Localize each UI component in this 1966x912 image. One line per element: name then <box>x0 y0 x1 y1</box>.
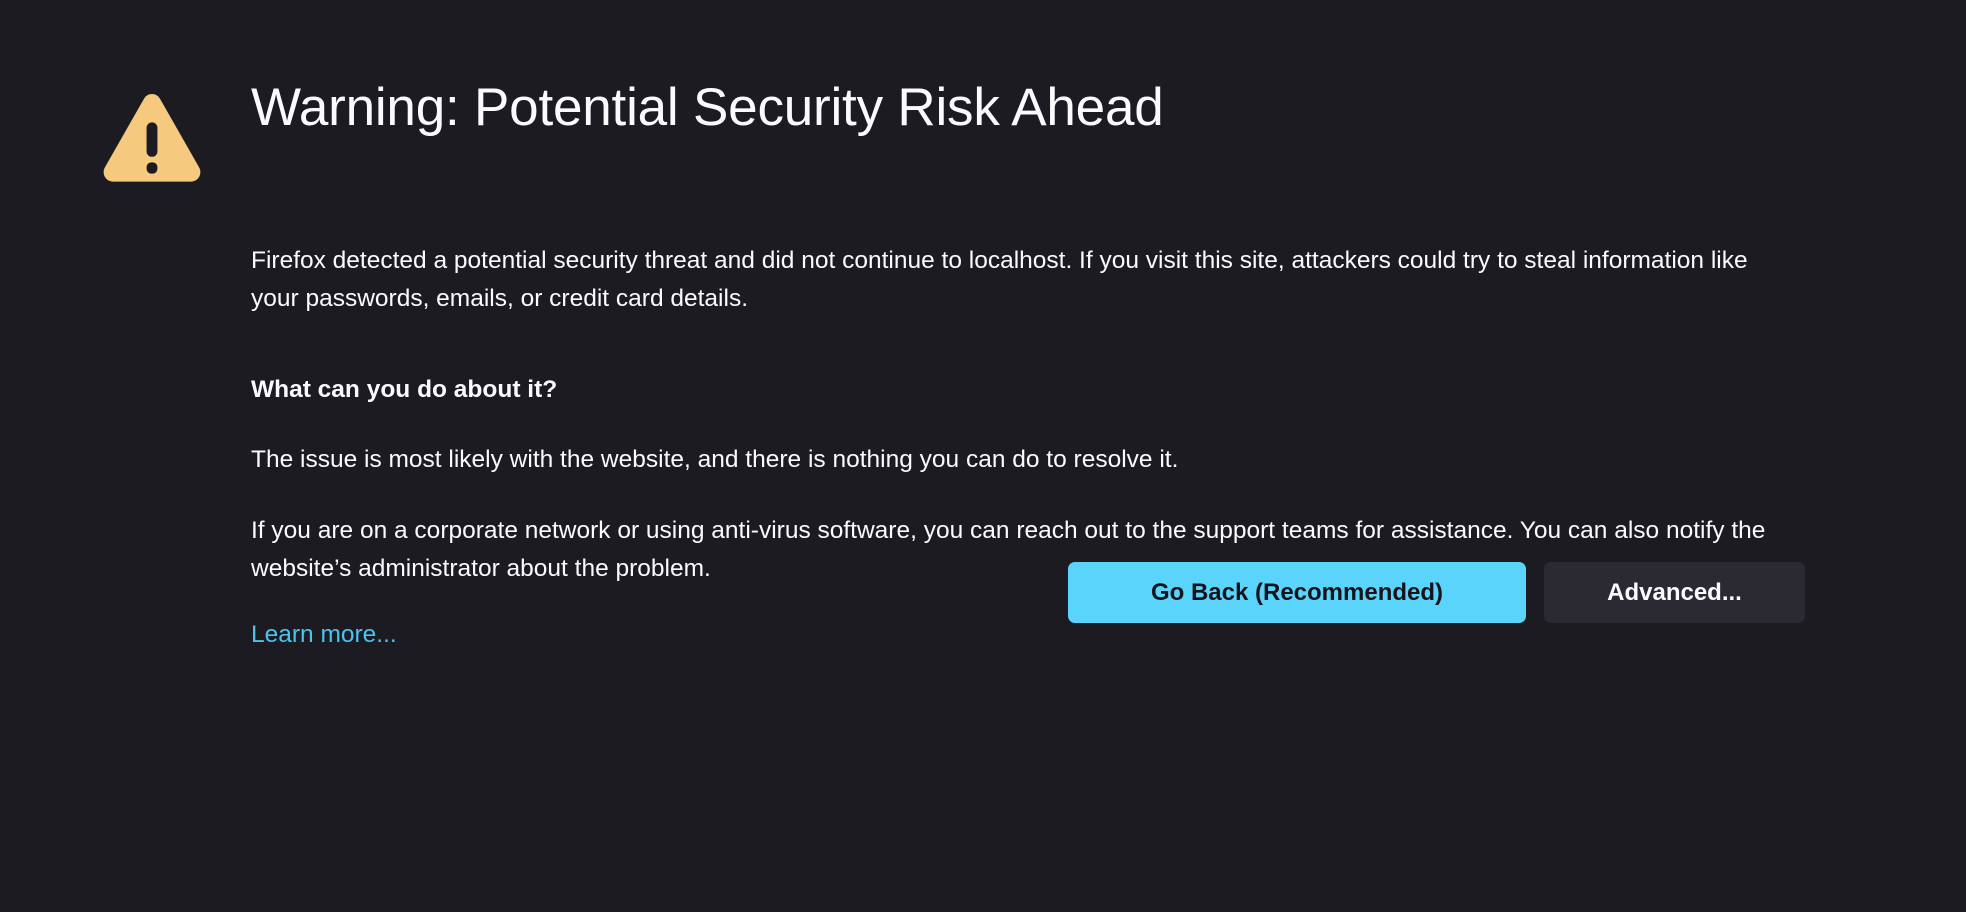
what-can-you-do-heading: What can you do about it? <box>251 374 1805 406</box>
page-title: Warning: Potential Security Risk Ahead <box>251 78 1164 137</box>
go-back-button[interactable]: Go Back (Recommended) <box>1068 562 1526 623</box>
intro-paragraph: Firefox detected a potential security th… <box>251 242 1796 318</box>
action-button-row: Go Back (Recommended) Advanced... <box>100 562 1805 623</box>
learn-more-link[interactable]: Learn more... <box>251 618 397 652</box>
advanced-button[interactable]: Advanced... <box>1544 562 1805 623</box>
error-page: Warning: Potential Security Risk Ahead F… <box>0 0 1966 912</box>
resolve-paragraph: The issue is most likely with the websit… <box>251 441 1796 479</box>
warning-triangle-icon <box>100 92 204 188</box>
error-header: Warning: Potential Security Risk Ahead <box>100 78 1805 184</box>
